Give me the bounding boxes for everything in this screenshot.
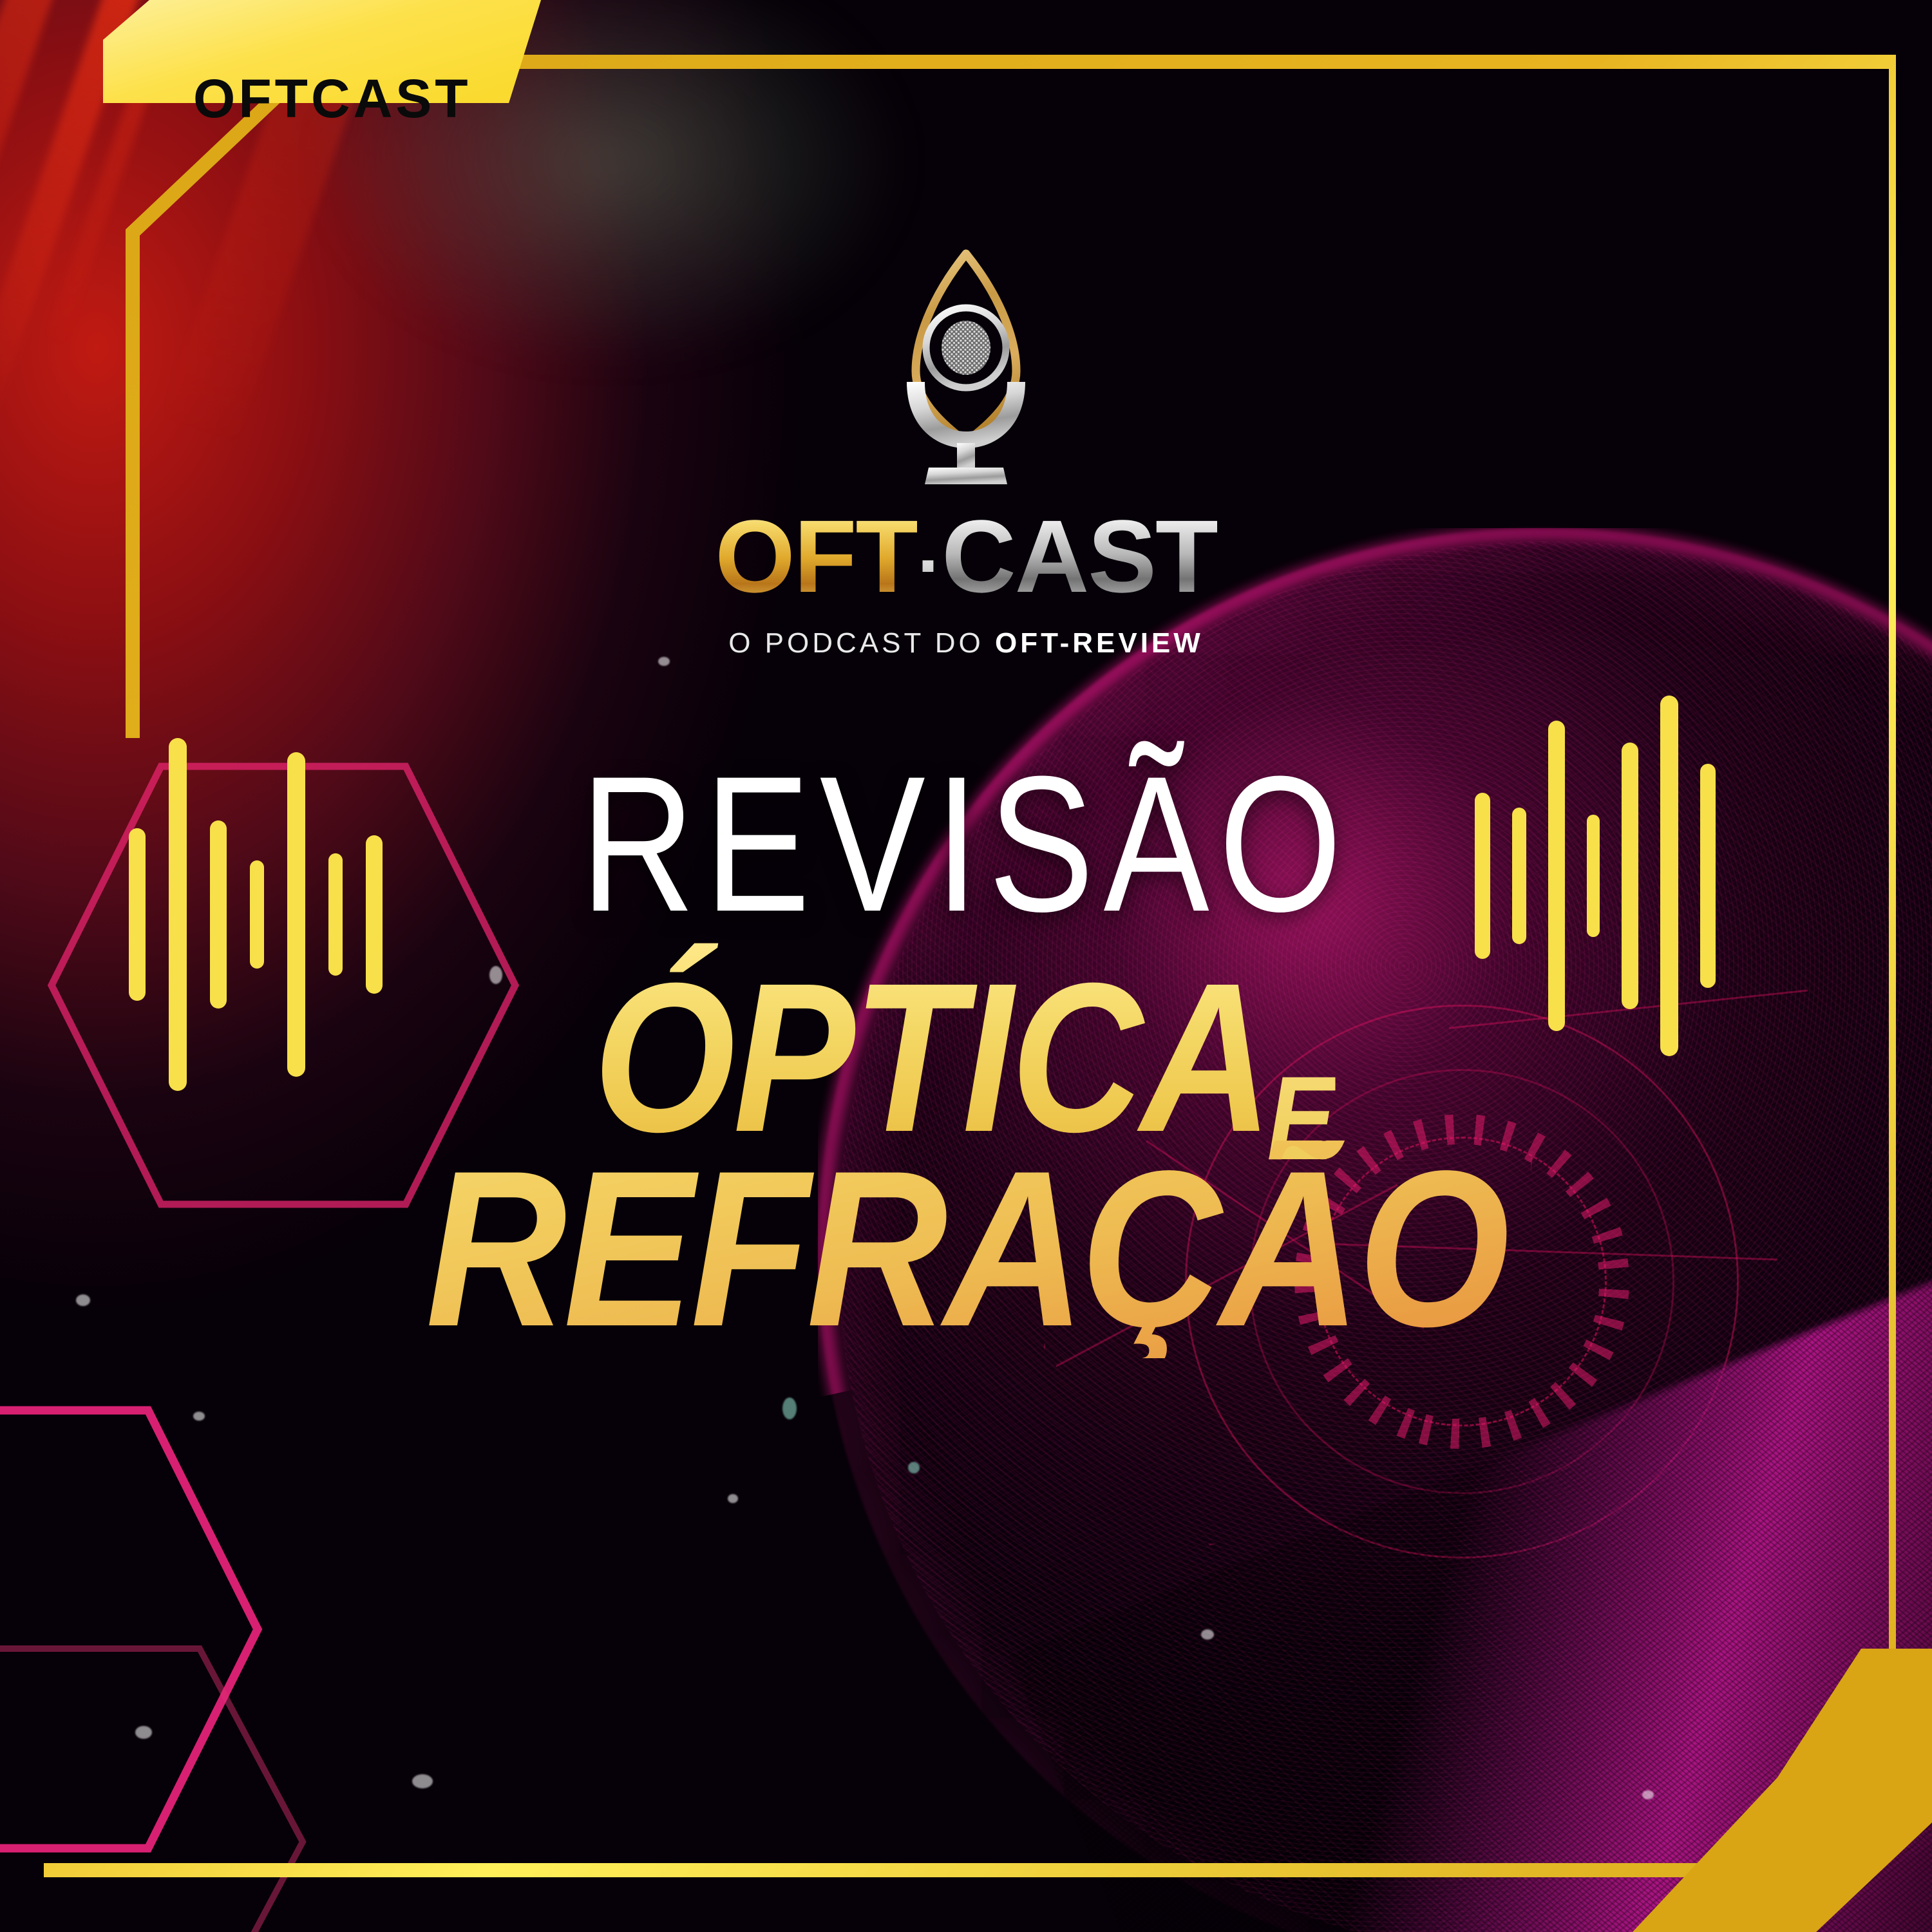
eye-microphone-icon <box>869 245 1063 489</box>
light-speck <box>135 1726 152 1739</box>
ribbon-label: OFTCAST <box>193 68 471 130</box>
light-speck <box>728 1494 738 1503</box>
light-speck <box>908 1462 920 1473</box>
light-speck <box>193 1412 205 1421</box>
light-speck <box>412 1774 433 1788</box>
wordmark-oft: OFT <box>715 498 917 614</box>
tagline: O PODCAST DO OFT-REVIEW <box>728 627 1204 659</box>
tagline-strong: OFT-REVIEW <box>995 627 1204 659</box>
light-speck <box>782 1397 797 1419</box>
wordmark-cast: CAST <box>942 498 1217 614</box>
wordmark-separator: · <box>917 522 942 609</box>
light-speck <box>1201 1629 1214 1640</box>
oftcast-ribbon: OFTCAST <box>0 0 554 187</box>
wordmark: OFT·CAST <box>715 505 1217 608</box>
podcast-cover-art: OFTCAST <box>0 0 1932 1932</box>
hexagon-outline <box>0 1636 316 1932</box>
logo-block: OFT·CAST O PODCAST DO OFT-REVIEW <box>0 245 1932 659</box>
title-line-1: REVISÃO <box>174 747 1758 940</box>
tagline-prefix: O PODCAST DO <box>728 627 995 659</box>
corner-accent-bottom-right <box>1571 1629 1932 1932</box>
episode-title: REVISÃO ÓPTICAE REFRAÇÃO <box>0 747 1932 1358</box>
title-line-3: REFRAÇÃO <box>116 1141 1816 1358</box>
